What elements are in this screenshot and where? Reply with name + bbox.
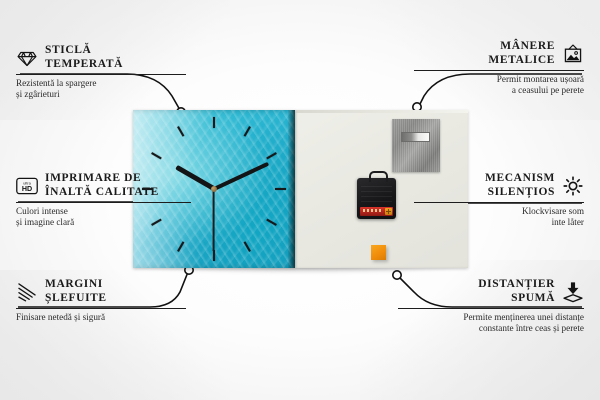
infographic-canvas: STICLĂ TEMPERATĂ Rezistentă la spargere … [0, 0, 600, 400]
feature-rule [414, 70, 584, 71]
metal-hanger-plate [392, 119, 440, 172]
hanger-brushed-texture [392, 119, 440, 172]
feature-title-line2: SILENȚIOS [485, 186, 555, 200]
feature-sub-line1: Klockvisare som [414, 206, 584, 217]
feature-rule [16, 202, 191, 203]
hanger-slot [401, 132, 430, 142]
feature-subtitle: Permit montarea ușoară a ceasului pe per… [414, 74, 584, 96]
battery-plus-terminal [385, 208, 392, 215]
feature-subtitle: Finisare netedă și sigură [16, 312, 186, 323]
battery-label [363, 209, 383, 212]
feature-polished-edges: MARGINI ȘLEFUITE Finisare netedă și sigu… [16, 278, 186, 323]
feature-heading: ultra HD IMPRIMARE DE ÎNALTĂ CALITATE [16, 172, 191, 199]
clock-center-cap [211, 186, 217, 192]
spacer-arrow-icon [562, 281, 584, 303]
feature-heading: MÂNERE METALICE [414, 40, 584, 67]
feature-title: MECANISM SILENȚIOS [485, 172, 555, 199]
feature-title-line1: DISTANȚIER [478, 278, 555, 292]
feature-sub-line1: Permite menținerea unei distanțe [398, 312, 584, 323]
feature-title: MÂNERE METALICE [488, 40, 555, 67]
feature-sub-line1: Finisare netedă și sigură [16, 312, 186, 323]
movement-body-detail [361, 184, 392, 202]
feature-subtitle: Culori intense și imagine clară [16, 206, 191, 228]
back-panel-top-edge [295, 110, 468, 113]
feature-title: DISTANȚIER SPUMĂ [478, 278, 555, 305]
feature-foam-spacer: DISTANȚIER SPUMĂ Permite menținerea unei… [398, 278, 584, 334]
feature-high-quality-print: ultra HD IMPRIMARE DE ÎNALTĂ CALITATE Cu… [16, 172, 191, 228]
feature-title: MARGINI ȘLEFUITE [45, 278, 107, 305]
feature-title: STICLĂ TEMPERATĂ [45, 44, 123, 71]
feature-title: IMPRIMARE DE ÎNALTĂ CALITATE [45, 172, 159, 199]
feature-heading: MECANISM SILENȚIOS [414, 172, 584, 199]
feature-title-line2: ÎNALTĂ CALITATE [45, 186, 159, 200]
feature-sub-line2: și imagine clară [16, 217, 191, 228]
clock-second-hand [213, 189, 215, 251]
feature-sub-line2: și zgârieturi [16, 89, 186, 100]
feature-title-line2: METALICE [488, 54, 555, 68]
feature-subtitle: Permite menținerea unei distanțe constan… [398, 312, 584, 334]
feature-title-line2: SPUMĂ [478, 292, 555, 306]
feature-heading: DISTANȚIER SPUMĂ [398, 278, 584, 305]
feature-title-line2: TEMPERATĂ [45, 58, 123, 72]
feature-rule [414, 202, 584, 203]
feature-subtitle: Rezistentă la spargere și zgârieturi [16, 78, 186, 100]
feature-title-line1: MECANISM [485, 172, 555, 186]
diamond-icon [16, 47, 38, 69]
feature-sub-line2: constante între ceas și perete [398, 323, 584, 334]
feature-sub-line2: inte låter [414, 217, 584, 228]
aa-battery [360, 207, 393, 216]
feature-silent-mechanism: MECANISM SILENȚIOS Klockvisare som inte … [414, 172, 584, 228]
gear-icon [562, 175, 584, 197]
feature-heading: STICLĂ TEMPERATĂ [16, 44, 186, 71]
feature-title-line1: IMPRIMARE DE [45, 172, 159, 186]
feature-title-line1: MARGINI [45, 278, 107, 292]
movement-hanging-loop [369, 171, 388, 182]
feature-metal-handles: MÂNERE METALICE Permit montarea ușoară a… [414, 40, 584, 96]
feature-title-line2: ȘLEFUITE [45, 292, 107, 306]
feature-rule [398, 308, 584, 309]
feature-sub-line1: Rezistentă la spargere [16, 78, 186, 89]
feature-sub-line1: Permit montarea ușoară [414, 74, 584, 85]
feature-title-line1: STICLĂ [45, 44, 123, 58]
picture-hanger-icon [562, 43, 584, 65]
foam-spacer-pad [371, 245, 386, 260]
ultra-hd-icon: ultra HD [16, 175, 38, 197]
feature-subtitle: Klockvisare som inte låter [414, 206, 584, 228]
polished-edges-icon [16, 281, 38, 303]
glass-right-edge [288, 110, 295, 268]
feature-sub-line2: a ceasului pe perete [414, 85, 584, 96]
feature-rule [16, 74, 186, 75]
clock-tick [213, 117, 215, 189]
feature-rule [16, 308, 186, 309]
feature-heading: MARGINI ȘLEFUITE [16, 278, 186, 305]
clock-tick [214, 188, 286, 190]
clock-movement [357, 178, 396, 219]
feature-tempered-glass: STICLĂ TEMPERATĂ Rezistentă la spargere … [16, 44, 186, 100]
feature-title-line1: MÂNERE [488, 40, 555, 54]
feature-sub-line1: Culori intense [16, 206, 191, 217]
ultra-hd-icon-main-text: HD [22, 185, 32, 193]
